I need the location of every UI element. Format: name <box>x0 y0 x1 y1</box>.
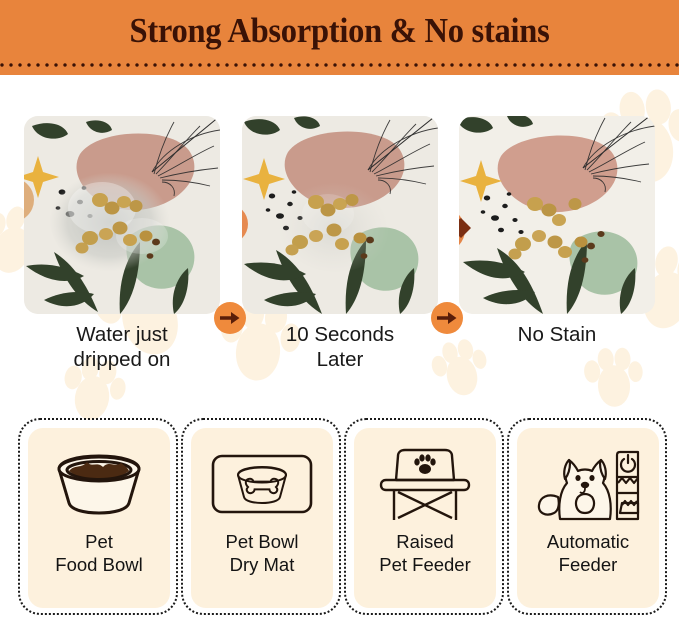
raised-pet-feeder-glyph <box>374 446 476 522</box>
usecase-card-body: Automatic Feeder <box>517 428 659 608</box>
header-dotted-divider <box>0 63 679 67</box>
usecase-card-body: Pet Bowl Dry Mat <box>191 428 333 608</box>
comparison-photo-1 <box>24 116 220 314</box>
usecase-label: Raised Pet Feeder <box>379 530 471 576</box>
paw-print-icon <box>414 454 435 474</box>
caption-line: dripped on <box>17 347 227 372</box>
usecase-label: Automatic Feeder <box>547 530 629 576</box>
power-button-icon <box>621 455 635 472</box>
comparison-caption-2: 10 Seconds Later <box>235 322 445 372</box>
usecase-card-body: Raised Pet Feeder <box>354 428 496 608</box>
pet-bowl-dry-mat-glyph <box>210 453 314 515</box>
usecase-card-pet-bowl-dry-mat[interactable]: Pet Bowl Dry Mat <box>181 418 341 615</box>
label-line: Automatic <box>547 530 629 553</box>
pet-bowl-dry-mat-icon <box>208 444 316 524</box>
usecase-label: Pet Bowl Dry Mat <box>225 530 298 576</box>
arrow-right-glyph <box>437 310 457 326</box>
label-line: Pet Feeder <box>379 553 471 576</box>
label-line: Pet Bowl <box>225 530 298 553</box>
automatic-feeder-icon <box>534 444 642 524</box>
label-line: Dry Mat <box>225 553 298 576</box>
pet-food-bowl-glyph <box>49 451 149 517</box>
absorption-comparison-strip: Water just dripped on 10 Seconds Later N… <box>0 86 679 386</box>
label-line: Pet <box>55 530 142 553</box>
pet-mat-photo-absorbing <box>242 116 438 314</box>
comparison-photo-3 <box>459 116 655 314</box>
usecase-card-row: Pet Food Bowl <box>0 418 679 623</box>
usecase-card-raised-pet-feeder[interactable]: Raised Pet Feeder <box>344 418 504 615</box>
usecase-card-automatic-feeder[interactable]: Automatic Feeder <box>507 418 667 615</box>
label-line: Food Bowl <box>55 553 142 576</box>
caption-line: 10 Seconds <box>235 322 445 347</box>
caption-line: No Stain <box>452 322 662 347</box>
usecase-label: Pet Food Bowl <box>55 530 142 576</box>
pet-mat-photo-dry <box>459 116 655 314</box>
comparison-caption-1: Water just dripped on <box>17 322 227 372</box>
arrow-right-icon <box>214 302 246 334</box>
comparison-photo-2 <box>242 116 438 314</box>
header-banner: Strong Absorption & No stains <box>0 0 679 75</box>
pet-mat-photo-wet <box>24 116 220 314</box>
infographic-page: Strong Absorption & No stains <box>0 0 679 630</box>
page-title: Strong Absorption & No stains <box>24 11 655 51</box>
arrow-right-glyph <box>220 310 240 326</box>
usecase-card-body: Pet Food Bowl <box>28 428 170 608</box>
comparison-caption-3: No Stain <box>452 322 662 347</box>
arrow-right-icon <box>431 302 463 334</box>
caption-line: Water just <box>17 322 227 347</box>
label-line: Feeder <box>547 553 629 576</box>
caption-line: Later <box>235 347 445 372</box>
pet-food-bowl-icon <box>45 444 153 524</box>
automatic-feeder-glyph <box>534 447 642 521</box>
usecase-card-pet-food-bowl[interactable]: Pet Food Bowl <box>18 418 178 615</box>
label-line: Raised <box>379 530 471 553</box>
raised-pet-feeder-icon <box>371 444 479 524</box>
